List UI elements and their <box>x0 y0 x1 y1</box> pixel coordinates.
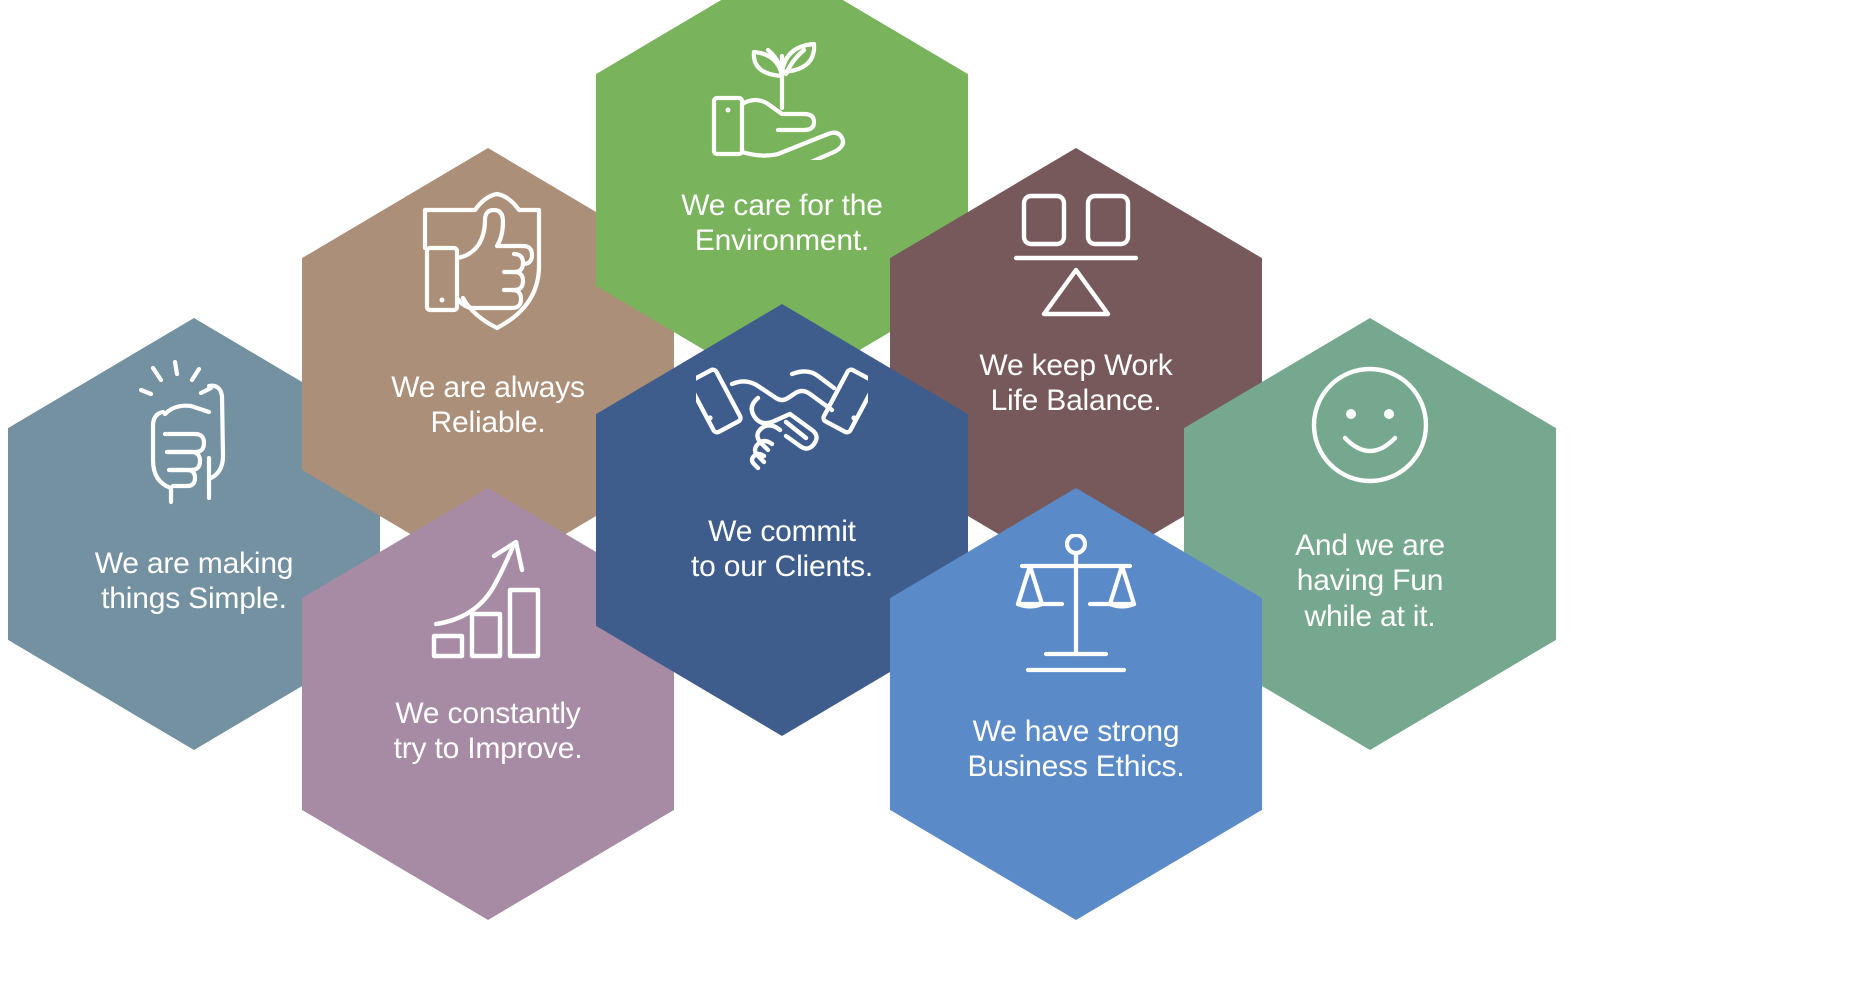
growth-chart-icon <box>430 532 546 660</box>
smiley-face-icon <box>1309 364 1431 486</box>
hexagon-simple-label: We are making things Simple. <box>85 546 304 617</box>
hexagon-reliable-label: We are always Reliable. <box>381 370 595 441</box>
hexagon-fun-label: And we are having Fun while at it. <box>1285 528 1455 634</box>
handshake-icon <box>696 356 868 474</box>
seesaw-balance-icon <box>1012 192 1140 320</box>
thumbs-up-shield-icon <box>413 190 563 338</box>
hexagon-environment-label: We care for the Environment. <box>671 188 893 259</box>
hexagon-improve-label: We constantly try to Improve. <box>384 696 593 767</box>
hexagon-business-ethics-label: We have strong Business Ethics. <box>958 714 1195 785</box>
hexagon-work-life-balance-label: We keep Work Life Balance. <box>969 348 1182 419</box>
snapping-fingers-icon <box>139 360 249 510</box>
hexagon-clients-label: We commit to our Clients. <box>681 514 883 585</box>
hand-holding-plant-icon <box>708 42 856 160</box>
infographic-canvas: We are making things Simple. We are alwa… <box>0 0 1853 997</box>
scales-of-justice-icon <box>1012 534 1140 674</box>
